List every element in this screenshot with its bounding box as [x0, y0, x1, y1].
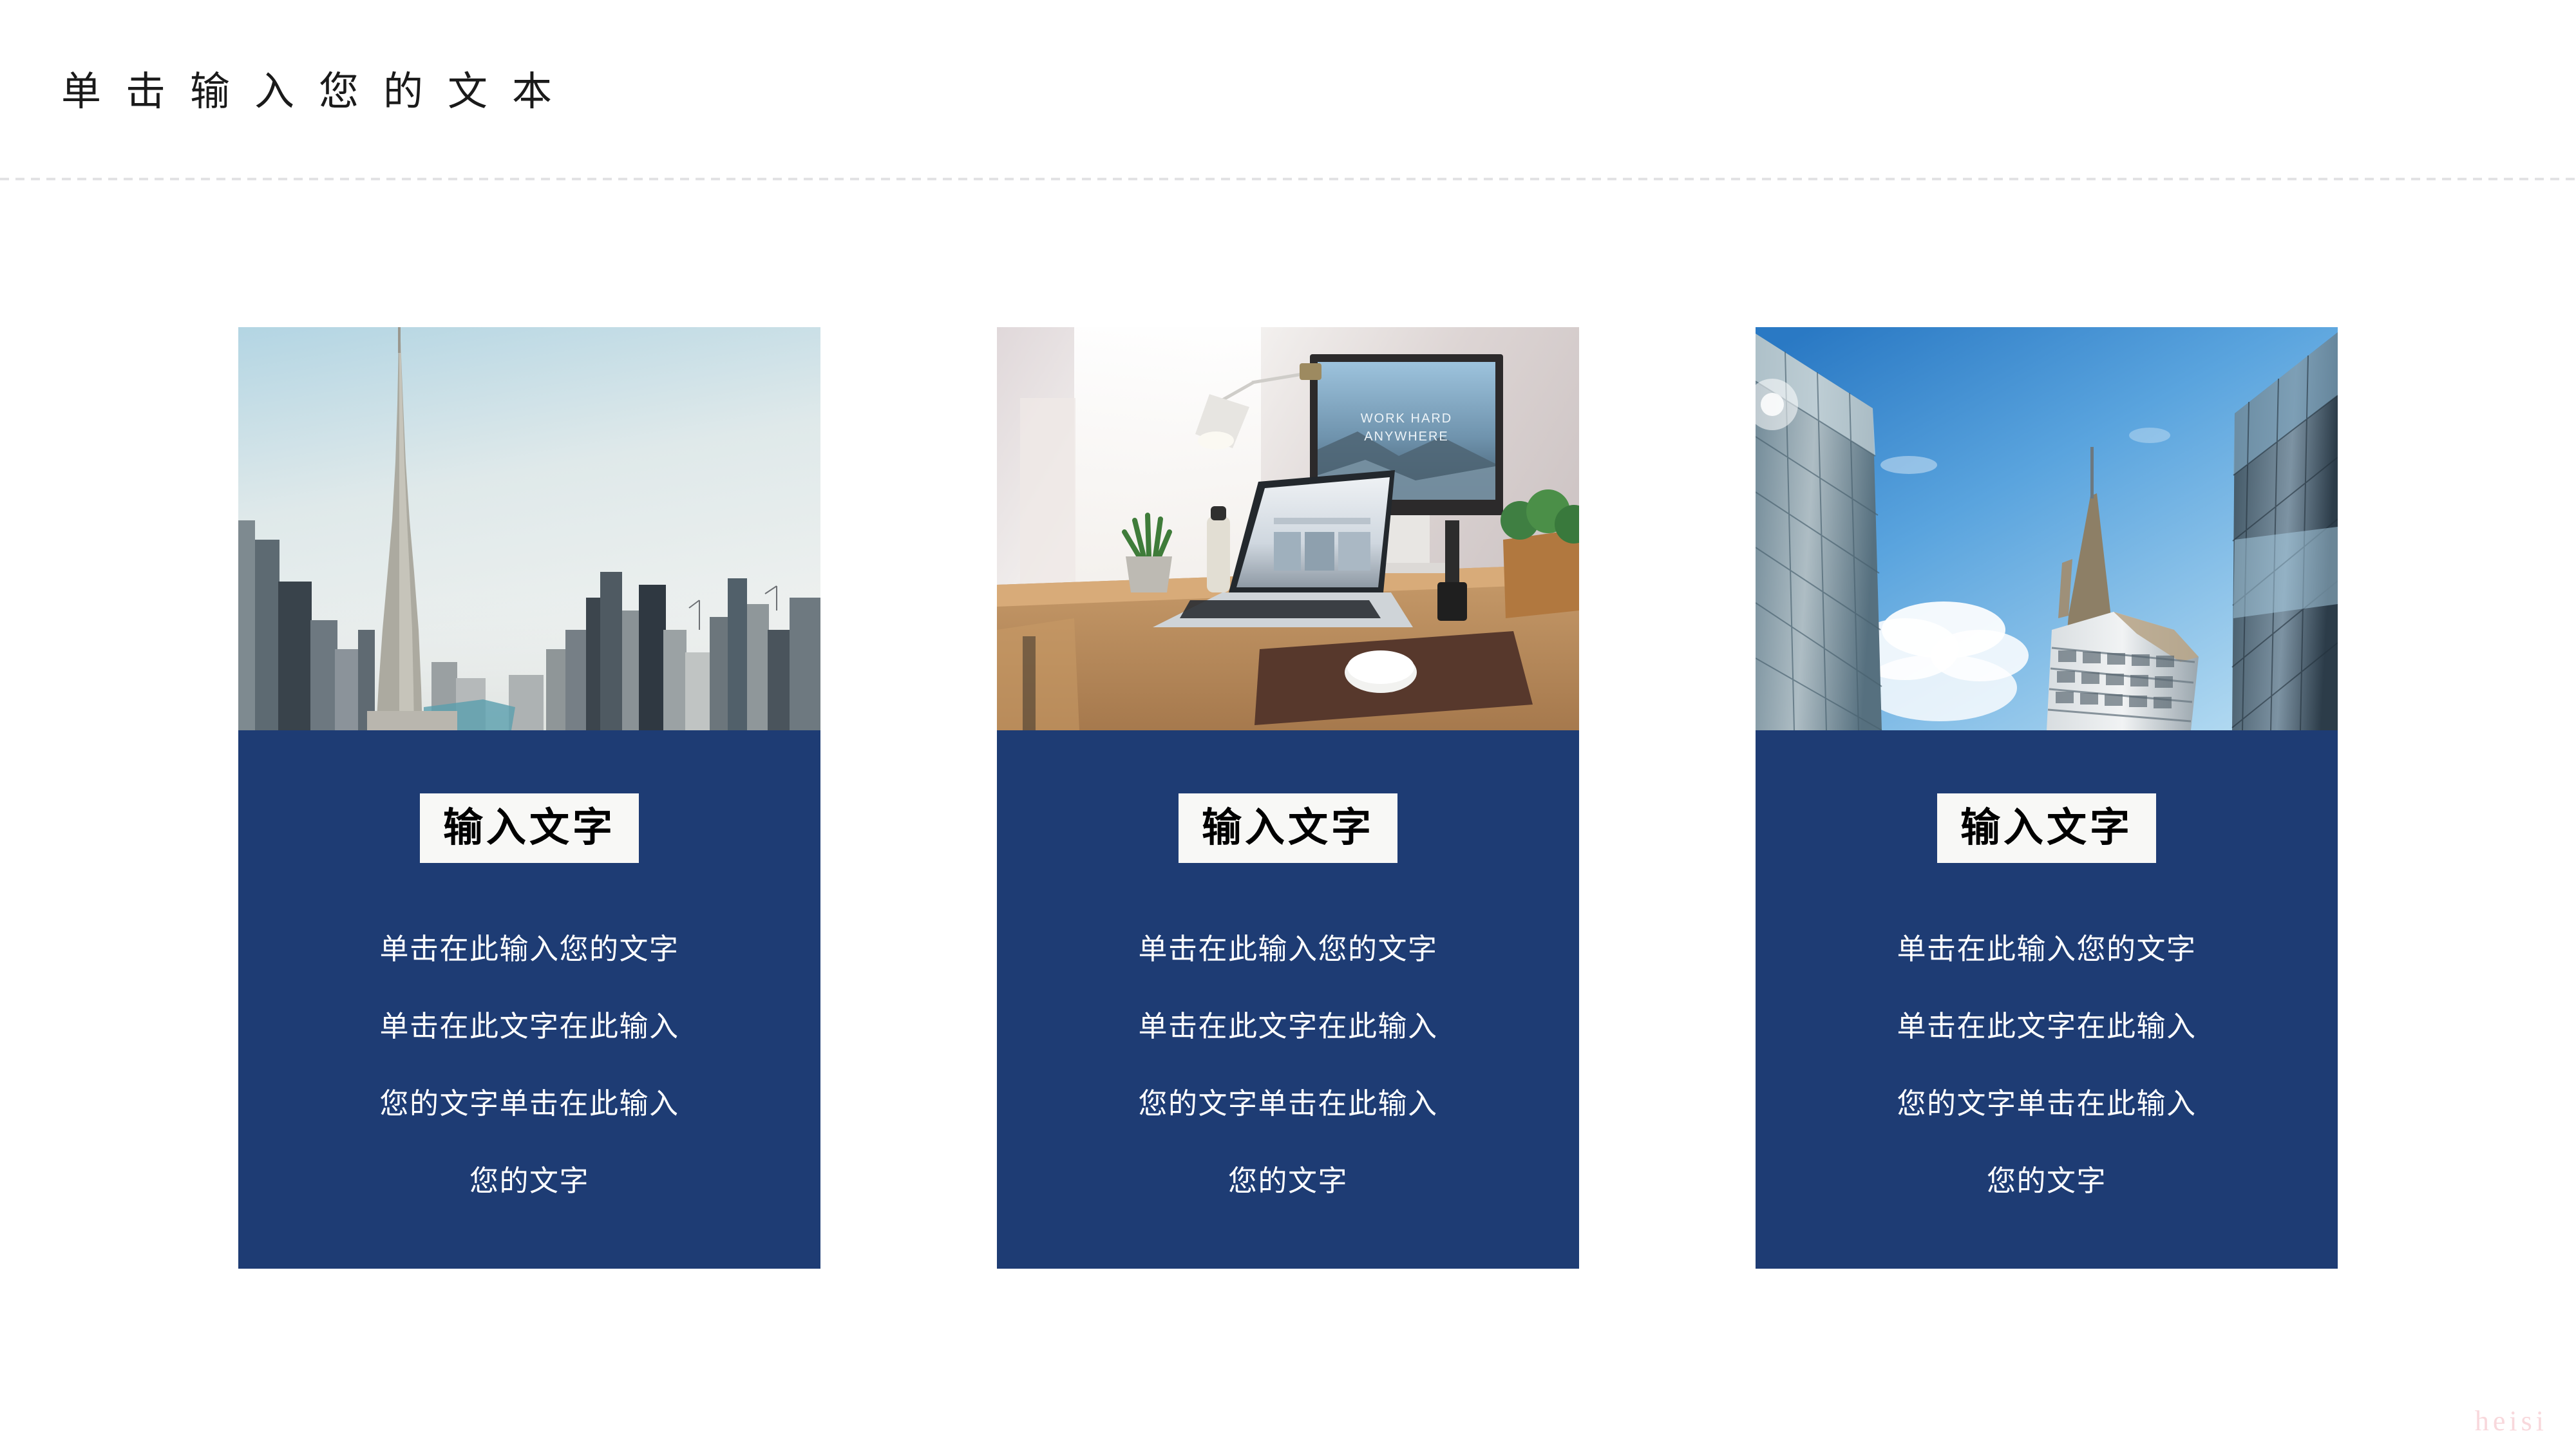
- card-text-line: 单击在此文字在此输入: [1756, 988, 2338, 1065]
- content-card-2[interactable]: WORK HARD ANYWHERE: [997, 327, 1579, 1269]
- header-divider: [0, 178, 2576, 180]
- dubai-skyline-photo: [238, 327, 820, 730]
- card-text-line: 单击在此输入您的文字: [997, 911, 1579, 988]
- card-heading-label-2: 输入文字: [1202, 808, 1374, 848]
- card-text-line: 您的文字单击在此输入: [238, 1065, 820, 1142]
- page-title: 单击输入您的文本: [61, 67, 576, 117]
- card-text-line: 您的文字: [997, 1142, 1579, 1220]
- card-text-line: 单击在此文字在此输入: [238, 988, 820, 1065]
- card-text-line: 您的文字: [1756, 1142, 2338, 1220]
- card-text-line: 单击在此输入您的文字: [1756, 911, 2338, 988]
- card-text-line: 您的文字单击在此输入: [1756, 1065, 2338, 1142]
- card-body-3: 输入文字 单击在此输入您的文字 单击在此文字在此输入 您的文字单击在此输入 您的…: [1756, 730, 2338, 1269]
- card-heading-label-1: 输入文字: [443, 808, 616, 848]
- svg-text:WORK HARD: WORK HARD: [1361, 412, 1452, 426]
- card-body-1: 输入文字 单击在此输入您的文字 单击在此文字在此输入 您的文字单击在此输入 您的…: [238, 730, 820, 1269]
- card-heading-label-3: 输入文字: [1960, 808, 2133, 848]
- card-heading-3: 输入文字: [1937, 793, 2156, 863]
- svg-text:ANYWHERE: ANYWHERE: [1364, 430, 1449, 444]
- card-text-line: 单击在此文字在此输入: [997, 988, 1579, 1065]
- desk-workspace-photo: WORK HARD ANYWHERE: [997, 327, 1579, 730]
- card-heading-2: 输入文字: [1179, 793, 1397, 863]
- glass-towers-photo: [1756, 327, 2338, 730]
- card-text-block-3: 单击在此输入您的文字 单击在此文字在此输入 您的文字单击在此输入 您的文字: [1756, 911, 2338, 1220]
- card-heading-1: 输入文字: [420, 793, 639, 863]
- card-body-2: 输入文字 单击在此输入您的文字 单击在此文字在此输入 您的文字单击在此输入 您的…: [997, 730, 1579, 1269]
- content-card-1[interactable]: 输入文字 单击在此输入您的文字 单击在此文字在此输入 您的文字单击在此输入 您的…: [238, 327, 820, 1269]
- content-card-3[interactable]: 输入文字 单击在此输入您的文字 单击在此文字在此输入 您的文字单击在此输入 您的…: [1756, 327, 2338, 1269]
- card-text-block-2: 单击在此输入您的文字 单击在此文字在此输入 您的文字单击在此输入 您的文字: [997, 911, 1579, 1220]
- slide-canvas: 单击输入您的文本: [0, 0, 2576, 1449]
- card-text-line: 单击在此输入您的文字: [238, 911, 820, 988]
- card-text-line: 您的文字: [238, 1142, 820, 1220]
- watermark: heisi: [2475, 1405, 2548, 1437]
- card-row: 输入文字 单击在此输入您的文字 单击在此文字在此输入 您的文字单击在此输入 您的…: [0, 327, 2576, 1269]
- card-text-line: 您的文字单击在此输入: [997, 1065, 1579, 1142]
- card-text-block-1: 单击在此输入您的文字 单击在此文字在此输入 您的文字单击在此输入 您的文字: [238, 911, 820, 1220]
